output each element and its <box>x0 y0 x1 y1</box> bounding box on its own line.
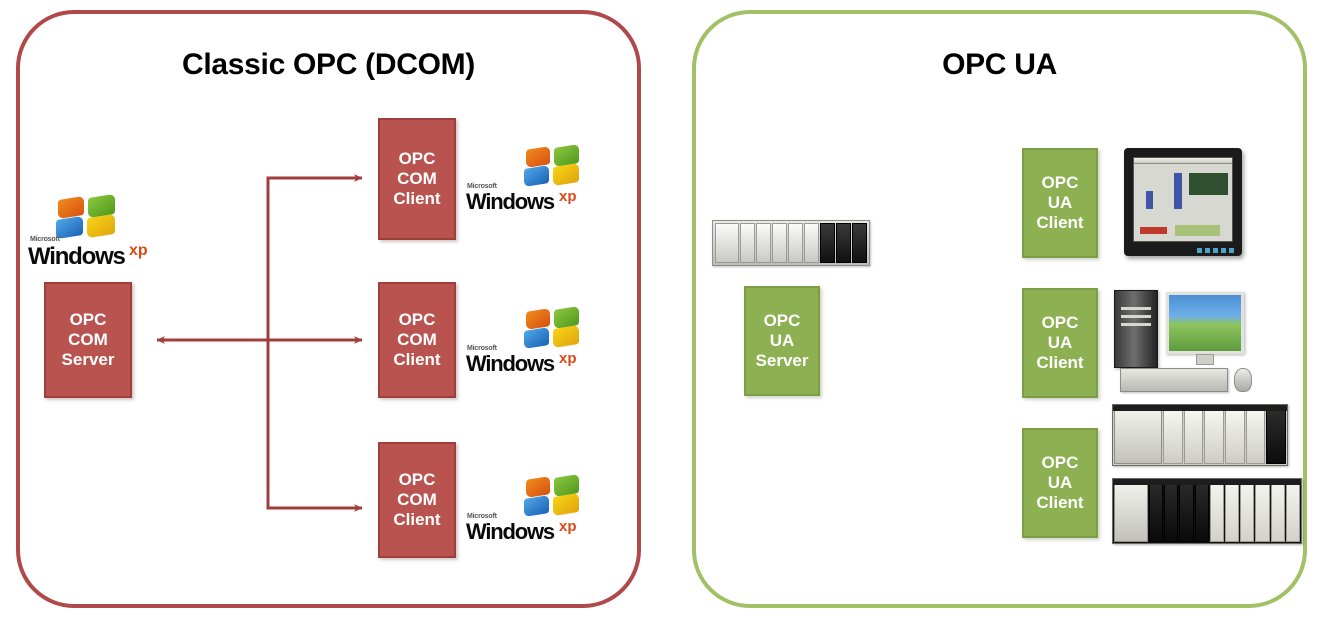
hmi-led-row <box>1197 248 1234 253</box>
plc-module <box>1255 480 1269 542</box>
node-line-2: COM <box>397 169 437 189</box>
xp-flag-pane-blue <box>524 495 549 517</box>
node-line-1: OPC <box>70 310 107 330</box>
node-opc-com-client-2[interactable]: OPC COM Client <box>378 282 456 398</box>
node-line-3: Server <box>62 350 115 370</box>
plc-module <box>1149 480 1163 542</box>
pc-drive-bay <box>1121 323 1151 326</box>
windows-xp-logo: Microsoft Windows xp <box>466 476 596 546</box>
node-line-3: Client <box>1036 213 1083 233</box>
plc-module <box>1225 480 1239 542</box>
node-line-2: COM <box>68 330 108 350</box>
hmi-led <box>1229 248 1234 253</box>
node-line-3: Client <box>1036 493 1083 513</box>
industrial-chassis-image <box>712 220 870 266</box>
plc-module <box>1164 480 1178 542</box>
pc-drive-bay <box>1121 315 1151 318</box>
chassis-slot <box>852 223 867 263</box>
plc-module <box>1246 406 1266 464</box>
windows-xp-logo: Microsoft Windows xp <box>466 308 596 378</box>
xp-flag-pane-yellow <box>553 325 579 348</box>
plc-module <box>1195 480 1209 542</box>
hmi-led <box>1221 248 1226 253</box>
node-line-1: OPC <box>399 310 436 330</box>
hmi-screen-toolbar <box>1134 158 1232 164</box>
node-line-3: Client <box>1036 353 1083 373</box>
node-line-2: UA <box>1048 333 1073 353</box>
pc-monitor-stand <box>1196 354 1214 365</box>
chassis-slot <box>836 223 851 263</box>
node-opc-ua-server[interactable]: OPC UA Server <box>744 286 820 396</box>
plc-module <box>1210 480 1224 542</box>
xp-flag-pane-blue <box>524 327 549 349</box>
pc-tower <box>1114 290 1158 368</box>
plc-rack-image <box>1112 404 1288 466</box>
plc-rack-dark-image <box>1112 478 1302 544</box>
node-line-1: OPC <box>399 149 436 169</box>
plc-rack-top-rail <box>1113 405 1287 411</box>
hmi-panel-image <box>1124 148 1242 256</box>
xp-logo-xp-text: xp <box>559 188 577 205</box>
plc-power-supply <box>1114 480 1148 542</box>
desktop-pc-image <box>1112 286 1262 398</box>
hmi-led <box>1197 248 1202 253</box>
hmi-led <box>1213 248 1218 253</box>
xp-logo-windows-text: Windows <box>466 351 554 377</box>
pc-mouse <box>1234 368 1252 392</box>
xp-logo-windows-text: Windows <box>28 243 125 271</box>
xp-logo-windows-text: Windows <box>466 189 554 215</box>
xp-flag-pane-yellow <box>553 493 579 516</box>
plc-module <box>1179 480 1193 542</box>
node-line-1: OPC <box>764 311 801 331</box>
xp-flag-pane-orange <box>58 196 84 219</box>
node-line-2: COM <box>397 330 437 350</box>
plc-module <box>1225 406 1245 464</box>
node-line-1: OPC <box>1042 173 1079 193</box>
chassis-slot <box>804 223 819 263</box>
node-line-2: UA <box>1048 473 1073 493</box>
node-opc-ua-client-2[interactable]: OPC UA Client <box>1022 288 1098 398</box>
hmi-led <box>1205 248 1210 253</box>
node-line-3: Server <box>756 351 809 371</box>
xp-logo-xp-text: xp <box>129 242 148 260</box>
node-line-1: OPC <box>399 470 436 490</box>
hmi-screen-alarm <box>1140 227 1167 234</box>
panel-classic-title: Classic OPC (DCOM) <box>20 48 637 82</box>
plc-module <box>1240 480 1254 542</box>
plc-power-supply <box>1114 406 1162 464</box>
node-line-3: Client <box>393 510 440 530</box>
pc-drive-bay <box>1121 307 1151 310</box>
pc-keyboard <box>1120 368 1228 392</box>
plc-module <box>1266 406 1286 464</box>
xp-flag-pane-blue <box>524 165 549 187</box>
plc-module <box>1271 480 1285 542</box>
windows-xp-logo: Microsoft Windows xp <box>466 146 596 216</box>
hmi-screen-status <box>1175 225 1220 236</box>
node-line-3: Client <box>393 189 440 209</box>
xp-flag-pane-orange <box>526 476 550 498</box>
chassis-slot <box>715 223 739 263</box>
pc-monitor <box>1166 292 1244 354</box>
xp-logo-windows-text: Windows <box>466 519 554 545</box>
node-opc-com-client-1[interactable]: OPC COM Client <box>378 118 456 240</box>
plc-module <box>1286 480 1300 542</box>
node-line-1: OPC <box>1042 313 1079 333</box>
node-opc-com-server[interactable]: OPC COM Server <box>44 282 132 398</box>
chassis-slot <box>740 223 755 263</box>
hmi-screen-bar-1 <box>1174 173 1182 210</box>
xp-logo-xp-text: xp <box>559 518 577 535</box>
xp-logo-xp-text: xp <box>559 350 577 367</box>
hmi-screen-chart <box>1189 173 1228 195</box>
windows-xp-logo: Microsoft Windows xp <box>24 196 154 274</box>
plc-module <box>1184 406 1204 464</box>
chassis-slot <box>788 223 803 263</box>
xp-flag-pane-orange <box>526 308 550 330</box>
pc-monitor-screen <box>1166 292 1244 354</box>
chassis-slot <box>772 223 787 263</box>
panel-ua-title: OPC UA <box>696 48 1303 82</box>
node-opc-ua-client-3[interactable]: OPC UA Client <box>1022 428 1098 538</box>
xp-logo-microsoft-text: Microsoft <box>30 236 60 243</box>
node-line-1: OPC <box>1042 453 1079 473</box>
chassis-slot <box>820 223 835 263</box>
xp-flag-pane-yellow <box>553 163 579 186</box>
node-opc-ua-client-1[interactable]: OPC UA Client <box>1022 148 1098 258</box>
node-line-3: Client <box>393 350 440 370</box>
plc-module <box>1163 406 1183 464</box>
hmi-screen-bar-2 <box>1146 191 1153 209</box>
chassis-slot <box>756 223 771 263</box>
node-line-2: UA <box>770 331 795 351</box>
plc-rack-top-rail <box>1113 479 1301 485</box>
hmi-screen <box>1133 157 1233 242</box>
xp-flag-pane-blue <box>56 216 83 239</box>
xp-flag-pane-orange <box>526 146 550 168</box>
node-opc-com-client-3[interactable]: OPC COM Client <box>378 442 456 558</box>
xp-flag-pane-yellow <box>87 214 115 238</box>
node-line-2: COM <box>397 490 437 510</box>
plc-module <box>1204 406 1224 464</box>
node-line-2: UA <box>1048 193 1073 213</box>
